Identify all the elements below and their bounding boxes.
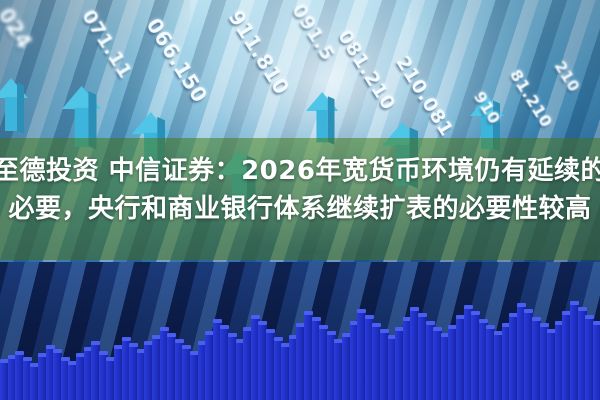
chart-bar — [593, 324, 600, 400]
bar-chart-skyline — [0, 270, 600, 400]
article-thumbnail: 071.11066.150911.810091.5081.210210.0819… — [0, 0, 600, 400]
background-lower-scene — [0, 262, 600, 400]
headline-text: 至德投资 中信证券：2026年宽货币环境仍有延续的必要，央行和商业银行体系继续扩… — [0, 152, 600, 228]
